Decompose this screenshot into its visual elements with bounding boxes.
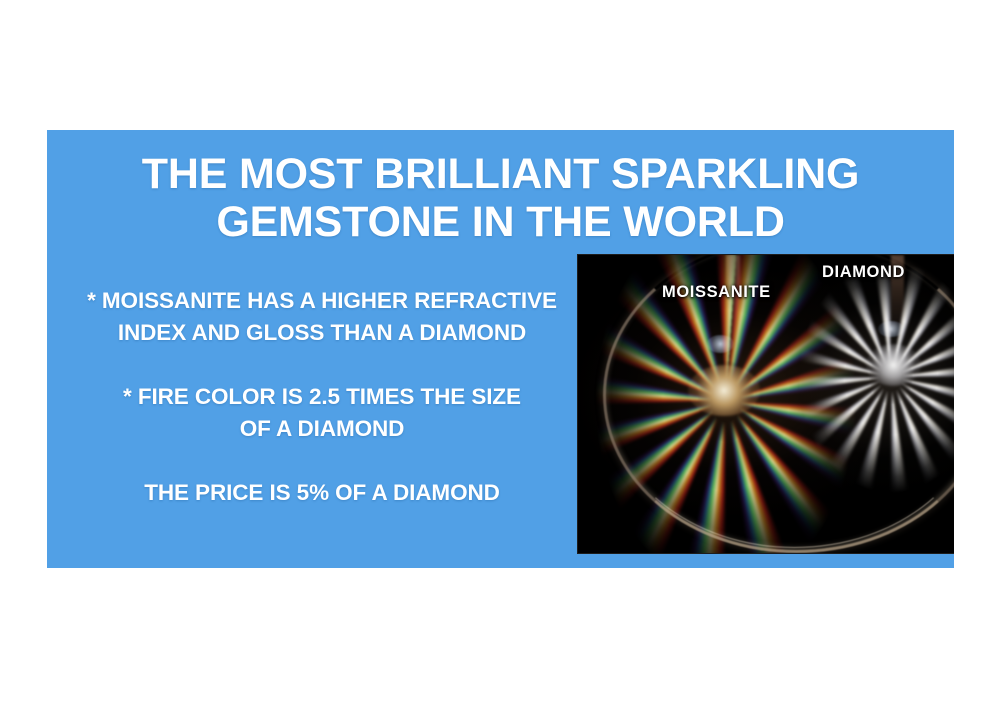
photo-label-diamond: DIAMOND <box>822 263 905 282</box>
moissanite-gem-core <box>688 365 760 416</box>
diamond-setting-highlight <box>878 321 903 337</box>
bullet-item-refractive-index: * MOISSANITE HAS A HIGHER REFRACTIVE IND… <box>57 285 587 349</box>
gem-comparison-photo: MOISSANITE DIAMOND <box>578 255 954 553</box>
slide-panel: THE MOST BRILLIANT SPARKLING GEMSTONE IN… <box>47 130 954 568</box>
diamond-gem-core <box>866 344 921 386</box>
photo-label-moissanite: MOISSANITE <box>662 283 771 302</box>
page-title: THE MOST BRILLIANT SPARKLING GEMSTONE IN… <box>47 150 954 246</box>
bullet-item-fire-color: * FIRE COLOR IS 2.5 TIMES THE SIZE OF A … <box>57 381 587 445</box>
body-copy-block: * MOISSANITE HAS A HIGHER REFRACTIVE IND… <box>57 285 587 509</box>
bullet-item-price: THE PRICE IS 5% OF A DIAMOND <box>57 477 587 509</box>
